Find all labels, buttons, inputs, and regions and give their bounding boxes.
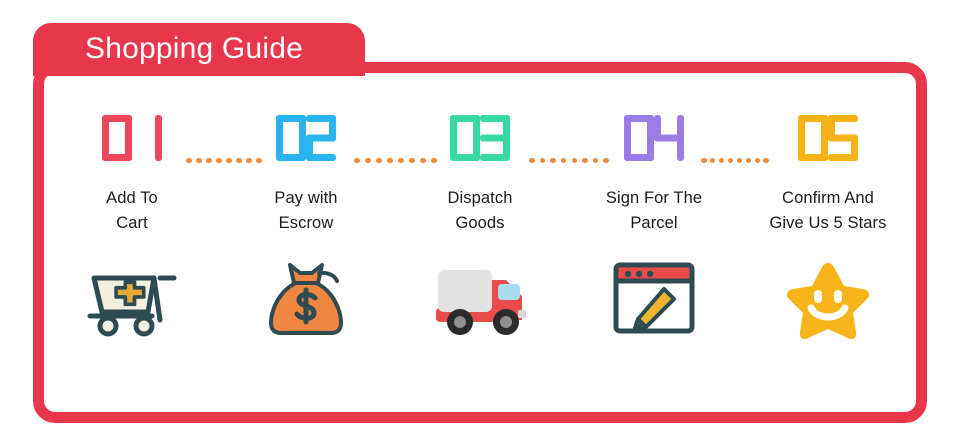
step-label-line2: Escrow — [216, 211, 396, 236]
step-label-line1: Pay with — [216, 186, 396, 211]
browser-pencil-icon — [612, 261, 696, 339]
connector-dot — [256, 158, 262, 164]
connector-dot — [529, 158, 535, 164]
smiling-star-icon — [780, 258, 876, 342]
connector-dot — [561, 158, 567, 164]
steps-row: Add ToCart Pay withEscrow DispatchGoods — [45, 110, 915, 405]
step-04: Sign For TheParcel — [567, 110, 741, 342]
connector-dot — [216, 158, 222, 164]
browser-pencil-icon — [606, 258, 702, 342]
connector-dot — [236, 158, 242, 164]
step-number — [102, 110, 162, 166]
step-connector — [186, 157, 262, 164]
connector-dot — [196, 158, 202, 164]
connector-dot — [246, 158, 252, 164]
step-number — [450, 110, 510, 166]
step-label: DispatchGoods — [390, 186, 570, 236]
shopping-cart-icon — [86, 260, 178, 340]
step-number — [798, 110, 858, 166]
step-label-line2: Goods — [390, 211, 570, 236]
step-label-line1: Add To — [42, 186, 222, 211]
step-number — [276, 110, 336, 166]
connector-dot — [728, 158, 734, 164]
step-label-line1: Sign For The — [564, 186, 744, 211]
money-bag-icon — [263, 259, 349, 341]
connector-dot — [737, 158, 743, 164]
step-connector — [529, 157, 609, 164]
connector-dot — [226, 158, 232, 164]
money-bag-icon — [258, 258, 354, 342]
delivery-truck-icon — [432, 262, 528, 338]
step-label: Confirm AndGive Us 5 Stars — [738, 186, 918, 236]
step-number — [624, 110, 684, 166]
step-label-line1: Dispatch — [390, 186, 570, 211]
connector-dot — [710, 158, 716, 164]
connector-dot — [572, 158, 578, 164]
step-connector — [701, 157, 769, 164]
step-02: Pay withEscrow — [219, 110, 393, 342]
connector-dot — [365, 158, 371, 164]
connector-dot — [354, 158, 360, 164]
connector-dot — [763, 158, 769, 164]
connector-dot — [603, 158, 609, 164]
connector-dot — [746, 158, 752, 164]
connector-dot — [701, 158, 707, 164]
connector-dot — [409, 158, 415, 164]
connector-dot — [593, 158, 599, 164]
step-label: Add ToCart — [42, 186, 222, 236]
step-03: DispatchGoods — [393, 110, 567, 342]
connector-dot — [420, 158, 426, 164]
connector-dot — [387, 158, 393, 164]
connector-dot — [186, 158, 192, 164]
connector-dot — [755, 158, 761, 164]
connector-dot — [431, 158, 437, 164]
shopping-guide-banner: Shopping Guide Add ToCart Pay withEscrow… — [0, 0, 960, 432]
smiling-star-icon — [787, 260, 869, 340]
connector-dot — [550, 158, 556, 164]
step-label: Pay withEscrow — [216, 186, 396, 236]
step-01: Add ToCart — [45, 110, 219, 342]
connector-dot — [398, 158, 404, 164]
connector-dot — [540, 158, 546, 164]
step-label-line1: Confirm And — [738, 186, 918, 211]
connector-dot — [376, 158, 382, 164]
connector-dot — [719, 158, 725, 164]
shopping-cart-icon — [84, 258, 180, 342]
page-title: Shopping Guide — [85, 30, 303, 68]
step-05: Confirm AndGive Us 5 Stars — [741, 110, 915, 342]
step-label-line2: Cart — [42, 211, 222, 236]
delivery-truck-icon — [432, 258, 528, 342]
step-label-line2: Parcel — [564, 211, 744, 236]
title-tab: Shopping Guide — [33, 23, 365, 75]
connector-dot — [206, 158, 212, 164]
step-label-line2: Give Us 5 Stars — [738, 211, 918, 236]
connector-dot — [582, 158, 588, 164]
step-label: Sign For TheParcel — [564, 186, 744, 236]
step-connector — [354, 157, 437, 164]
